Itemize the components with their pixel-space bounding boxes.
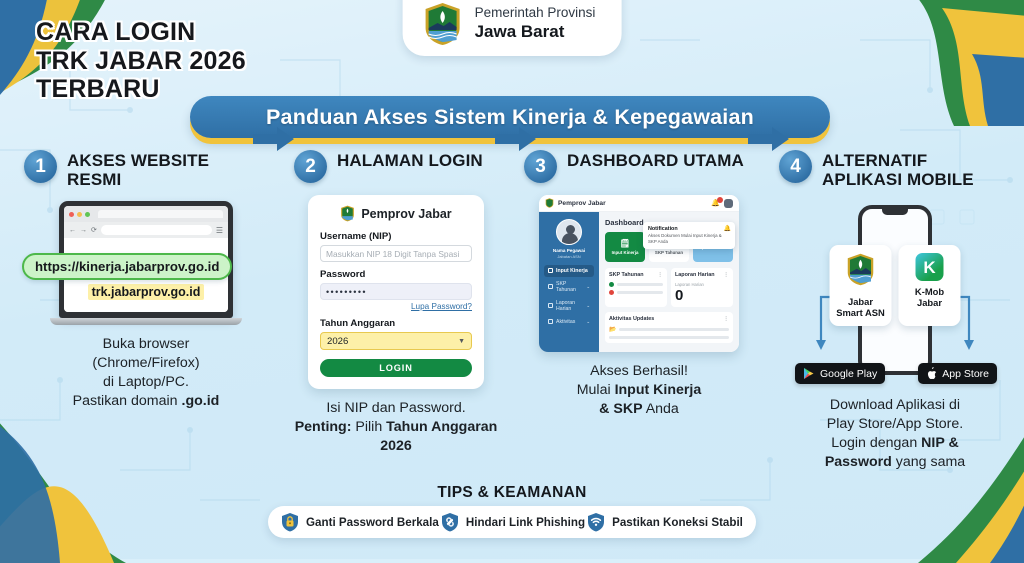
steps-container: 1 AKSES WEBSITE RESMI xyxy=(0,150,1024,480)
sidebar-item-input-kinerja[interactable]: Input Kinerja xyxy=(544,265,594,277)
shield-wifi-icon xyxy=(587,512,605,532)
card-skp-tahunan: SKP Tahunan ⋮ xyxy=(605,268,667,307)
step-4-header: 4 ALTERNATIF APLIKASI MOBILE xyxy=(775,150,1015,189)
app-card-list: Jabar Smart ASN K K-Mob Jabar xyxy=(830,245,961,325)
notification-title: Notification xyxy=(648,226,730,232)
year-select-value: 2026 xyxy=(327,336,348,347)
step-4-title: ALTERNATIF APLIKASI MOBILE xyxy=(822,150,1011,189)
infographic-canvas: CARA LOGIN TRK JABAR 2026 TERBARU Pemeri… xyxy=(0,0,1024,559)
arrow-step1-to-step2 xyxy=(253,125,295,153)
step-4: 4 ALTERNATIF APLIKASI MOBILE xyxy=(775,150,1015,473)
update-row xyxy=(609,336,729,339)
tips-bar: Ganti Password Berkala Hindari Link Phis… xyxy=(268,506,756,538)
clipboard-icon: 🗒 xyxy=(620,240,630,248)
browser-maximize-dot xyxy=(85,212,90,217)
google-play-badge[interactable]: Google Play xyxy=(795,363,885,384)
card-row xyxy=(609,282,663,287)
step-3-title: DASHBOARD UTAMA xyxy=(567,150,744,171)
jawa-barat-coat-of-arms xyxy=(545,198,554,208)
browser-tab[interactable] xyxy=(98,210,223,218)
browser-close-dot xyxy=(69,212,74,217)
step-4-visual: Jabar Smart ASN K K-Mob Jabar xyxy=(775,201,1015,386)
kebab-menu-icon[interactable]: ⋮ xyxy=(724,316,729,322)
username-input[interactable]: Masukkan NIP 18 Digit Tanpa Spasi xyxy=(320,245,472,262)
arrow-step3-to-step4 xyxy=(748,125,790,153)
step-1-caption: Buka browser(Chrome/Firefox)di Laptop/PC… xyxy=(20,335,272,411)
placeholder-bar xyxy=(619,328,729,331)
sidebar-item-label: Aktivitas xyxy=(556,319,575,325)
chevron-down-icon: ⌄ xyxy=(586,319,590,325)
shield-lock-icon xyxy=(281,512,299,532)
app-card-k-mob-jabar[interactable]: K K-Mob Jabar xyxy=(899,245,961,325)
jawa-barat-coat-of-arms xyxy=(340,205,355,222)
tip-label: Hindari Link Phishing xyxy=(466,516,585,529)
login-brand-label: Pemprov Jabar xyxy=(361,207,451,221)
sidebar-item-aktivitas[interactable]: Aktivitas ⌄ xyxy=(544,316,594,328)
forgot-password-link[interactable]: Lupa Password? xyxy=(320,302,472,311)
card-header: Aktivitas Updates ⋮ xyxy=(609,316,729,322)
sidebar-item-laporan-harian[interactable]: Laporan Harian ⌄ xyxy=(544,297,594,315)
dashboard-cards: SKP Tahunan ⋮ xyxy=(605,268,733,307)
step-2-number: 2 xyxy=(294,150,327,183)
placeholder-bar xyxy=(617,291,663,294)
store-label: App Store xyxy=(942,368,989,380)
card-subtitle: Laporan Harian xyxy=(675,282,729,287)
notification-popup: 🔔 Notification Akses Dokumen Mulai Input… xyxy=(643,222,735,249)
forward-icon[interactable]: → xyxy=(80,227,87,234)
user-role: Jabatan ASN xyxy=(544,254,594,259)
jawa-barat-coat-of-arms xyxy=(846,253,876,286)
browser-address-bar[interactable] xyxy=(101,225,212,235)
step-2: 2 HALAMAN LOGIN Pemprov Jabar Username xyxy=(290,150,502,456)
dashboard-topbar: Pemprov Jabar 🔔 xyxy=(539,195,739,212)
app-name: Jabar Smart ASN xyxy=(835,296,887,318)
app-card-jabar-smart-asn[interactable]: Jabar Smart ASN xyxy=(830,245,892,325)
step-3-header: 3 DASHBOARD UTAMA xyxy=(520,150,758,183)
gov-badge: Pemerintah Provinsi Jawa Barat xyxy=(403,0,622,56)
placeholder-bar xyxy=(609,336,729,339)
tip-koneksi-stabil: Pastikan Koneksi Stabil xyxy=(587,512,743,532)
dashboard-sidebar: Nama Pegawai Jabatan ASN Input Kinerja S… xyxy=(539,212,599,352)
sidebar-user: Nama Pegawai Jabatan ASN xyxy=(544,219,594,259)
step-1-number: 1 xyxy=(24,150,57,183)
card-value: 0 xyxy=(675,288,729,303)
status-alert-icon xyxy=(609,290,614,295)
title-line-2: TRK JABAR 2026 xyxy=(36,47,246,76)
step-2-header: 2 HALAMAN LOGIN xyxy=(290,150,502,183)
phone-mockup: Jabar Smart ASN K K-Mob Jabar xyxy=(787,201,1003,386)
tip-label: Pastikan Koneksi Stabil xyxy=(612,516,743,529)
card-title: Aktivitas Updates xyxy=(609,316,654,322)
kebab-menu-icon[interactable]: ⋮ xyxy=(724,272,729,278)
chevron-down-icon: ▼ xyxy=(458,338,465,345)
official-url-pill: https://kinerja.jabarprov.go.id xyxy=(22,253,232,280)
card-header: Laporan Harian ⋮ xyxy=(675,272,729,278)
page-title: CARA LOGIN TRK JABAR 2026 TERBARU xyxy=(36,18,246,104)
dashboard-topbar-actions: 🔔 xyxy=(711,199,733,208)
tip-label: Ganti Password Berkala xyxy=(306,516,439,529)
kebab-menu-icon[interactable]: ⋮ xyxy=(658,272,663,278)
status-ok-icon xyxy=(609,282,614,287)
laptop-mockup: ← → ⟳ ☰ atau trk.jabarprov.go.id xyxy=(59,201,233,325)
arrow-step2-to-step3 xyxy=(495,125,537,153)
chevron-down-icon: ⌄ xyxy=(586,284,590,290)
title-line-1: CARA LOGIN xyxy=(36,18,246,47)
apple-icon xyxy=(926,367,937,380)
year-label: Tahun Anggaran xyxy=(320,318,472,329)
sidebar-item-label: SKP Tahunan xyxy=(556,281,583,293)
login-submit-button[interactable]: LOGIN xyxy=(320,359,472,377)
bell-icon[interactable]: 🔔 xyxy=(711,199,720,207)
activity-icon xyxy=(548,319,553,324)
menu-icon[interactable]: ☰ xyxy=(216,226,223,235)
step-2-visual: Pemprov Jabar Username (NIP) Masukkan NI… xyxy=(290,195,502,389)
step-3: 3 DASHBOARD UTAMA Pemprov Jabar 🔔 xyxy=(520,150,758,419)
laptop-base xyxy=(50,318,242,325)
sidebar-item-skp-tahunan[interactable]: SKP Tahunan ⌄ xyxy=(544,278,594,296)
step-4-caption: Download Aplikasi diPlay Store/App Store… xyxy=(775,396,1015,472)
bell-icon: 🔔 xyxy=(724,225,731,232)
step-3-number: 3 xyxy=(524,150,557,183)
user-avatar xyxy=(556,219,582,245)
tile-label: Input Kinerja xyxy=(612,250,639,255)
password-label: Password xyxy=(320,269,472,280)
chevron-down-icon: ⌄ xyxy=(586,303,590,309)
browser-minimize-dot xyxy=(77,212,82,217)
jawa-barat-coat-of-arms xyxy=(423,2,463,46)
placeholder-bar xyxy=(617,283,663,286)
login-brand: Pemprov Jabar xyxy=(320,205,472,222)
year-select[interactable]: 2026 ▼ xyxy=(320,332,472,350)
dashboard-brand: Pemprov Jabar xyxy=(558,200,707,207)
dashboard-mockup: Pemprov Jabar 🔔 Nama Pegawai Jabatan ASN xyxy=(539,195,739,352)
step-3-visual: Pemprov Jabar 🔔 Nama Pegawai Jabatan ASN xyxy=(520,195,758,352)
sidebar-item-label: Laporan Harian xyxy=(556,300,583,312)
card-title: Laporan Harian xyxy=(675,272,715,278)
step-3-caption: Akses Berhasil!Mulai Input Kinerja& SKP … xyxy=(520,362,758,419)
notification-body: Akses Dokumen Mulai Input Kinerja & SKP … xyxy=(648,233,730,245)
tip-ganti-password: Ganti Password Berkala xyxy=(281,512,439,532)
shield-link-icon xyxy=(441,512,459,532)
tips-title: TIPS & KEAMANAN xyxy=(0,484,1024,502)
username-label: Username (NIP) xyxy=(320,231,472,242)
alt-url-value: trk.jabarprov.go.id xyxy=(88,284,205,300)
step-4-number: 4 xyxy=(779,150,812,183)
card-row xyxy=(609,290,663,295)
store-label: Google Play xyxy=(820,368,877,380)
sidebar-item-label: Input Kinerja xyxy=(556,268,588,274)
dashboard-main: Dashboard 🗒 Input Kinerja 📄 SKP Tahunan xyxy=(599,212,739,352)
card-header: SKP Tahunan ⋮ xyxy=(609,272,663,278)
step-2-title: HALAMAN LOGIN xyxy=(337,150,483,171)
app-name: K-Mob Jabar xyxy=(904,286,956,308)
tip-hindari-phishing: Hindari Link Phishing xyxy=(441,512,585,532)
dashboard-body: Nama Pegawai Jabatan ASN Input Kinerja S… xyxy=(539,212,739,352)
avatar[interactable] xyxy=(724,199,733,208)
google-play-icon xyxy=(803,367,815,380)
step-2-caption: Isi NIP dan Password.Penting: Pilih Tahu… xyxy=(290,399,502,456)
step-1-title: AKSES WEBSITE RESMI xyxy=(67,150,268,189)
password-input[interactable]: ••••••••• xyxy=(320,283,472,300)
notification-badge xyxy=(717,197,723,203)
step-1-header: 1 AKSES WEBSITE RESMI xyxy=(20,150,272,189)
tile-input-kinerja[interactable]: 🗒 Input Kinerja xyxy=(605,232,645,262)
browser-titlebar xyxy=(64,206,228,222)
card-title: SKP Tahunan xyxy=(609,272,644,278)
step-1: 1 AKSES WEBSITE RESMI xyxy=(20,150,272,412)
back-icon[interactable]: ← xyxy=(69,227,76,234)
reload-icon[interactable]: ⟳ xyxy=(91,226,97,234)
login-form-mockup: Pemprov Jabar Username (NIP) Masukkan NI… xyxy=(308,195,484,389)
grid-icon xyxy=(548,268,553,273)
tile-label: SKP Tahunan xyxy=(655,250,683,255)
card-laporan-harian: Laporan Harian ⋮ Laporan Harian 0 xyxy=(671,268,733,307)
gov-badge-line2: Jawa Barat xyxy=(475,22,596,42)
report-icon xyxy=(548,303,553,308)
step-1-visual: ← → ⟳ ☰ atau trk.jabarprov.go.id xyxy=(20,201,272,325)
document-icon xyxy=(548,284,553,289)
folder-icon: 📂 xyxy=(609,326,616,333)
gov-badge-line1: Pemerintah Provinsi xyxy=(475,5,596,22)
app-store-badge[interactable]: App Store xyxy=(918,363,997,384)
update-row: 📂 xyxy=(609,326,729,333)
browser-navbar: ← → ⟳ ☰ xyxy=(64,222,228,238)
k-mob-logo: K xyxy=(916,253,944,281)
card-aktivitas-updates: Aktivitas Updates ⋮ 📂 xyxy=(605,312,733,343)
